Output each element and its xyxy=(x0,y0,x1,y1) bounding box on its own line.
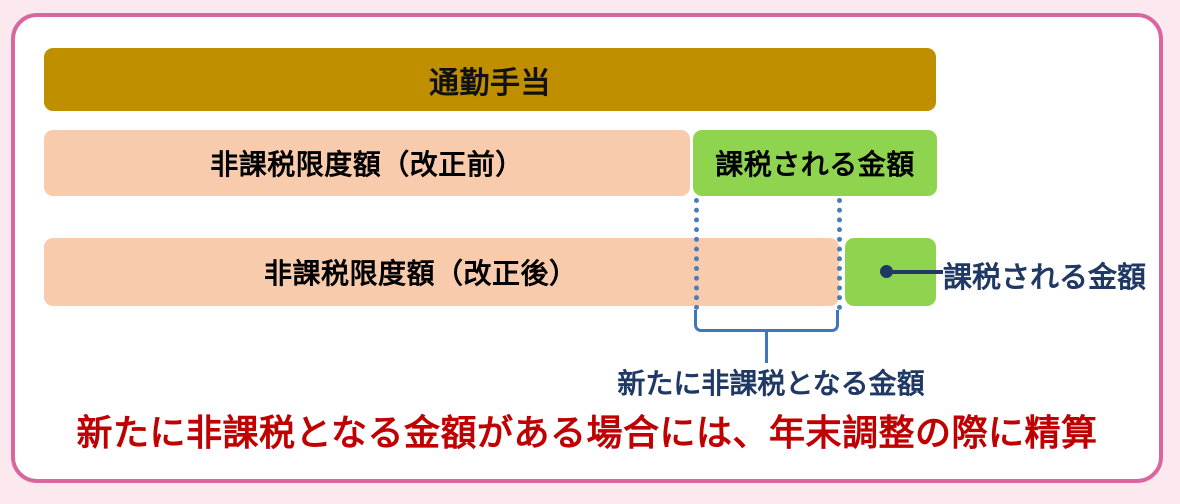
exempt-limit-after-bar: 非課税限度額（改正後） xyxy=(44,238,839,306)
year-end-adjustment-note: 新たに非課税となる金額がある場合には、年末調整の際に精算 xyxy=(11,404,1163,456)
newly-exempt-brace-stem xyxy=(765,330,768,363)
taxable-amount-callout-label: 課税される金額 xyxy=(943,254,1146,296)
newly-exempt-amount-label: 新たに非課税となる金額 xyxy=(586,362,956,402)
guide-line-right xyxy=(837,198,842,310)
commuting-allowance-title-label: 通勤手当 xyxy=(429,58,551,102)
taxable-amount-before-bar: 課税される金額 xyxy=(693,130,937,196)
commuting-allowance-title-bar: 通勤手当 xyxy=(44,48,936,111)
newly-exempt-brace xyxy=(694,310,839,332)
taxable-amount-before-label: 課税される金額 xyxy=(715,143,915,183)
exempt-limit-after-label: 非課税限度額（改正後） xyxy=(264,252,578,292)
exempt-limit-before-label: 非課税限度額（改正前） xyxy=(210,143,524,183)
guide-line-left xyxy=(694,198,699,310)
diagram-canvas: 通勤手当 非課税限度額（改正前） 課税される金額 非課税限度額（改正後） 新たに… xyxy=(0,0,1180,504)
exempt-limit-before-bar: 非課税限度額（改正前） xyxy=(44,130,690,196)
callout-leader-line xyxy=(891,270,943,274)
